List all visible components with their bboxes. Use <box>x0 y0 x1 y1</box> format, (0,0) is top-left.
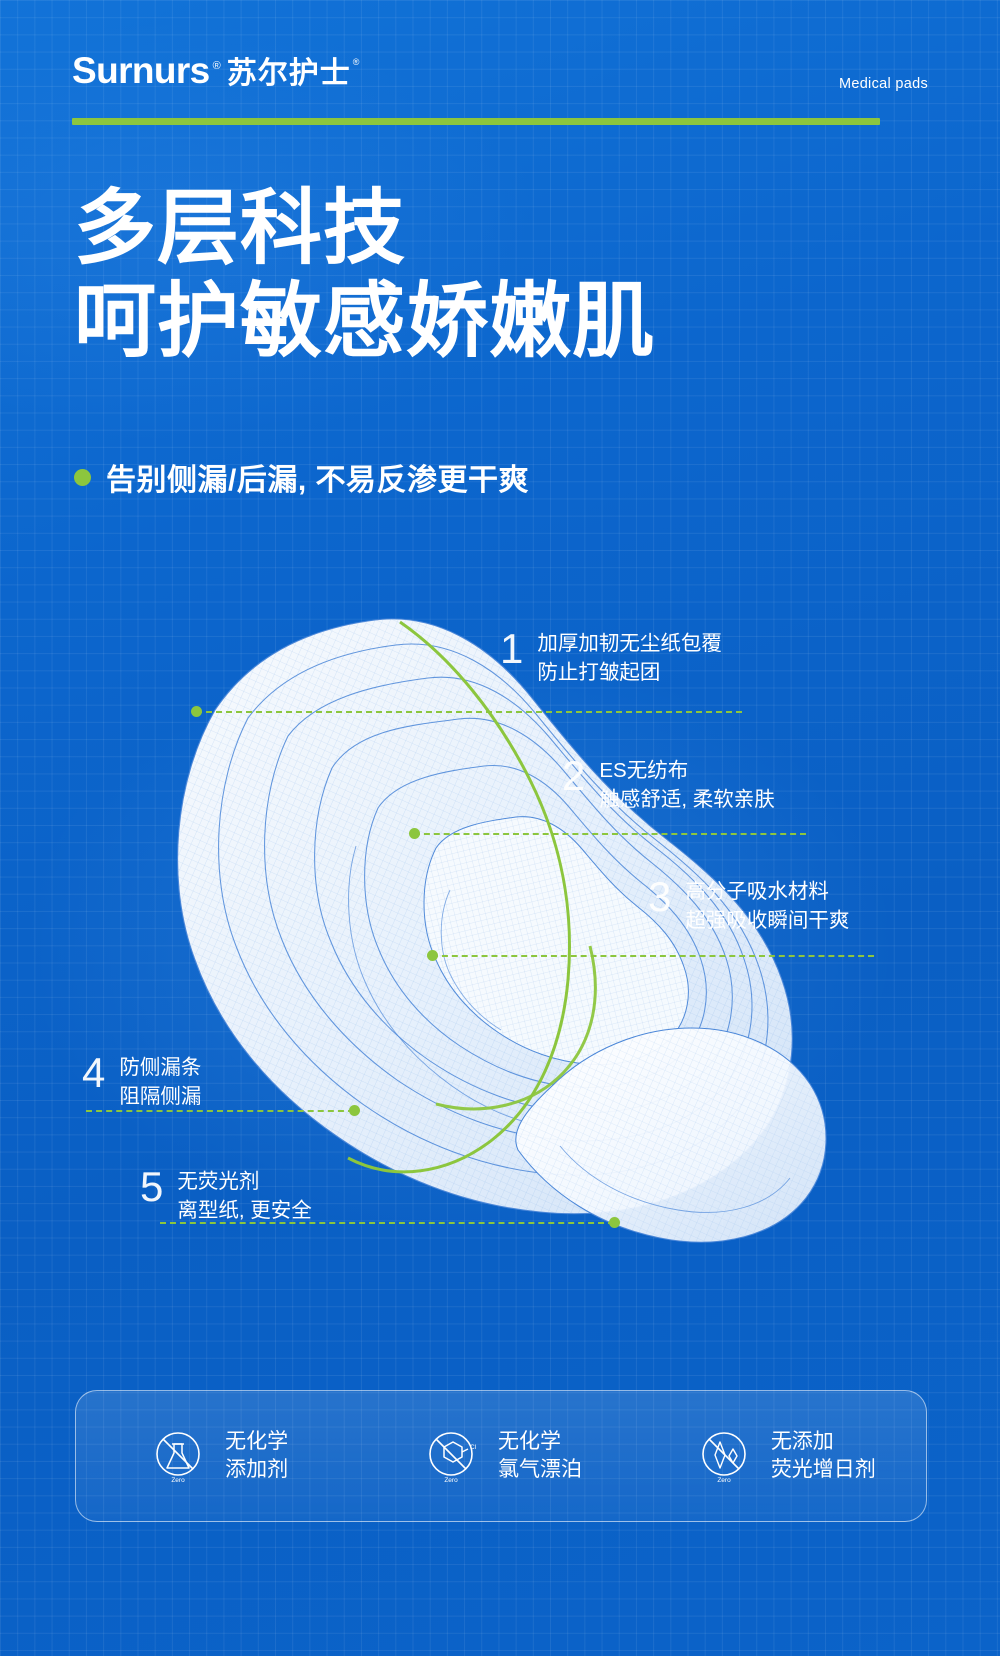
badge-chem-label-cl: Cl <box>470 1444 477 1451</box>
badge-2-line-2: 氯气漂泊 <box>498 1458 582 1481</box>
callout-1-line-1: 加厚加韧无尘纸包覆 <box>537 632 722 655</box>
callout-3-line-1: 高分子吸水材料 <box>685 880 829 903</box>
callout-4-line-1: 防侧漏条 <box>119 1056 201 1079</box>
leader-line-1 <box>196 711 742 713</box>
callout-2-line-2: 触感舒适, 柔软亲肤 <box>599 788 774 811</box>
badge-3-line-1: 无添加 <box>771 1430 834 1453</box>
leader-line-2 <box>414 833 806 835</box>
registered-trademark-secondary-icon: ® <box>353 57 360 67</box>
headline-line-2: 呵护敏感娇嫩肌 <box>74 279 655 366</box>
badge-text-1: 无化学 添加剂 <box>225 1428 288 1485</box>
badge-no-chlorine-bleach: Cl Zero 无化学 氯气漂泊 <box>359 1425 642 1487</box>
callout-number-3: 3 <box>648 878 671 917</box>
callout-text-3: 高分子吸水材料 超强吸收瞬间干爽 <box>685 878 849 935</box>
badge-no-fluorescent-agent: Zero 无添加 荧光增日剂 <box>643 1425 926 1487</box>
badge-text-3: 无添加 荧光增日剂 <box>771 1428 876 1485</box>
headline-line-1: 多层科技 <box>74 186 655 273</box>
leader-dot-2 <box>409 828 420 839</box>
page-title: 多层科技 呵护敏感娇嫩肌 <box>74 186 655 366</box>
callout-number-2: 2 <box>562 757 585 796</box>
feature-callout-2: 2 ES无纺布 触感舒适, 柔软亲肤 <box>562 757 775 814</box>
badge-1-line-2: 添加剂 <box>225 1458 288 1481</box>
leader-dot-4 <box>349 1105 360 1116</box>
callout-number-5: 5 <box>140 1168 163 1207</box>
bullet-dot-icon <box>74 469 91 486</box>
callout-5-line-2: 离型纸, 更安全 <box>177 1199 311 1222</box>
header-divider-bar <box>72 118 880 125</box>
callout-text-5: 无荧光剂 离型纸, 更安全 <box>177 1168 311 1225</box>
callout-text-1: 加厚加韧无尘纸包覆 防止打皱起团 <box>537 630 722 687</box>
callout-3-line-2: 超强吸收瞬间干爽 <box>685 909 849 932</box>
badge-text-2: 无化学 氯气漂泊 <box>498 1428 582 1485</box>
leader-line-3 <box>432 955 874 957</box>
leader-dot-5 <box>609 1217 620 1228</box>
badge-3-line-2: 荧光增日剂 <box>771 1458 876 1481</box>
header-tagline: Medical pads <box>839 76 928 92</box>
callout-number-1: 1 <box>500 630 523 669</box>
callout-text-4: 防侧漏条 阻隔侧漏 <box>119 1054 201 1111</box>
brand-name-chinese: 苏尔护士 <box>227 59 351 89</box>
badge-zero-label-1: Zero <box>171 1477 185 1484</box>
brand-logo: Surnurs ® 苏尔护士 ® <box>72 52 928 89</box>
feature-callout-5: 5 无荧光剂 离型纸, 更安全 <box>140 1168 312 1225</box>
callout-number-4: 4 <box>82 1054 105 1093</box>
badge-no-chemical-additives: Zero 无化学 添加剂 <box>76 1425 359 1487</box>
page-header: Surnurs ® 苏尔护士 ® Medical pads <box>72 52 928 112</box>
badge-zero-label-2: Zero <box>444 1477 458 1484</box>
callout-2-line-1: ES无纺布 <box>599 759 688 782</box>
brand-name-latin: Surnurs <box>72 52 210 89</box>
feature-callout-4: 4 防侧漏条 阻隔侧漏 <box>82 1054 201 1111</box>
callout-4-line-2: 阻隔侧漏 <box>119 1085 201 1108</box>
product-marketing-page: Surnurs ® 苏尔护士 ® Medical pads 多层科技 呵护敏感娇… <box>0 0 1000 1656</box>
callout-text-2: ES无纺布 触感舒适, 柔软亲肤 <box>599 757 774 814</box>
callout-1-line-2: 防止打皱起团 <box>537 661 660 684</box>
subtitle-row: 告别侧漏/后漏, 不易反渗更干爽 <box>74 455 529 499</box>
leader-dot-3 <box>427 950 438 961</box>
leader-dot-1 <box>191 706 202 717</box>
subtitle-text: 告别侧漏/后漏, 不易反渗更干爽 <box>106 455 529 499</box>
badge-2-line-1: 无化学 <box>498 1430 561 1453</box>
callout-5-line-1: 无荧光剂 <box>177 1170 259 1193</box>
feature-callout-3: 3 高分子吸水材料 超强吸收瞬间干爽 <box>648 878 849 935</box>
feature-callout-1: 1 加厚加韧无尘纸包覆 防止打皱起团 <box>500 630 722 687</box>
registered-trademark-icon: ® <box>213 60 221 72</box>
safety-badges-panel: Zero 无化学 添加剂 Cl Zero 无化学 <box>75 1390 927 1522</box>
badge-1-line-1: 无化学 <box>225 1430 288 1453</box>
badge-zero-label-3: Zero <box>717 1477 731 1484</box>
no-chemical-flask-icon: Zero <box>147 1425 209 1487</box>
no-fluorescent-agent-icon: Zero <box>693 1425 755 1487</box>
no-chlorine-bleach-icon: Cl Zero <box>420 1425 482 1487</box>
